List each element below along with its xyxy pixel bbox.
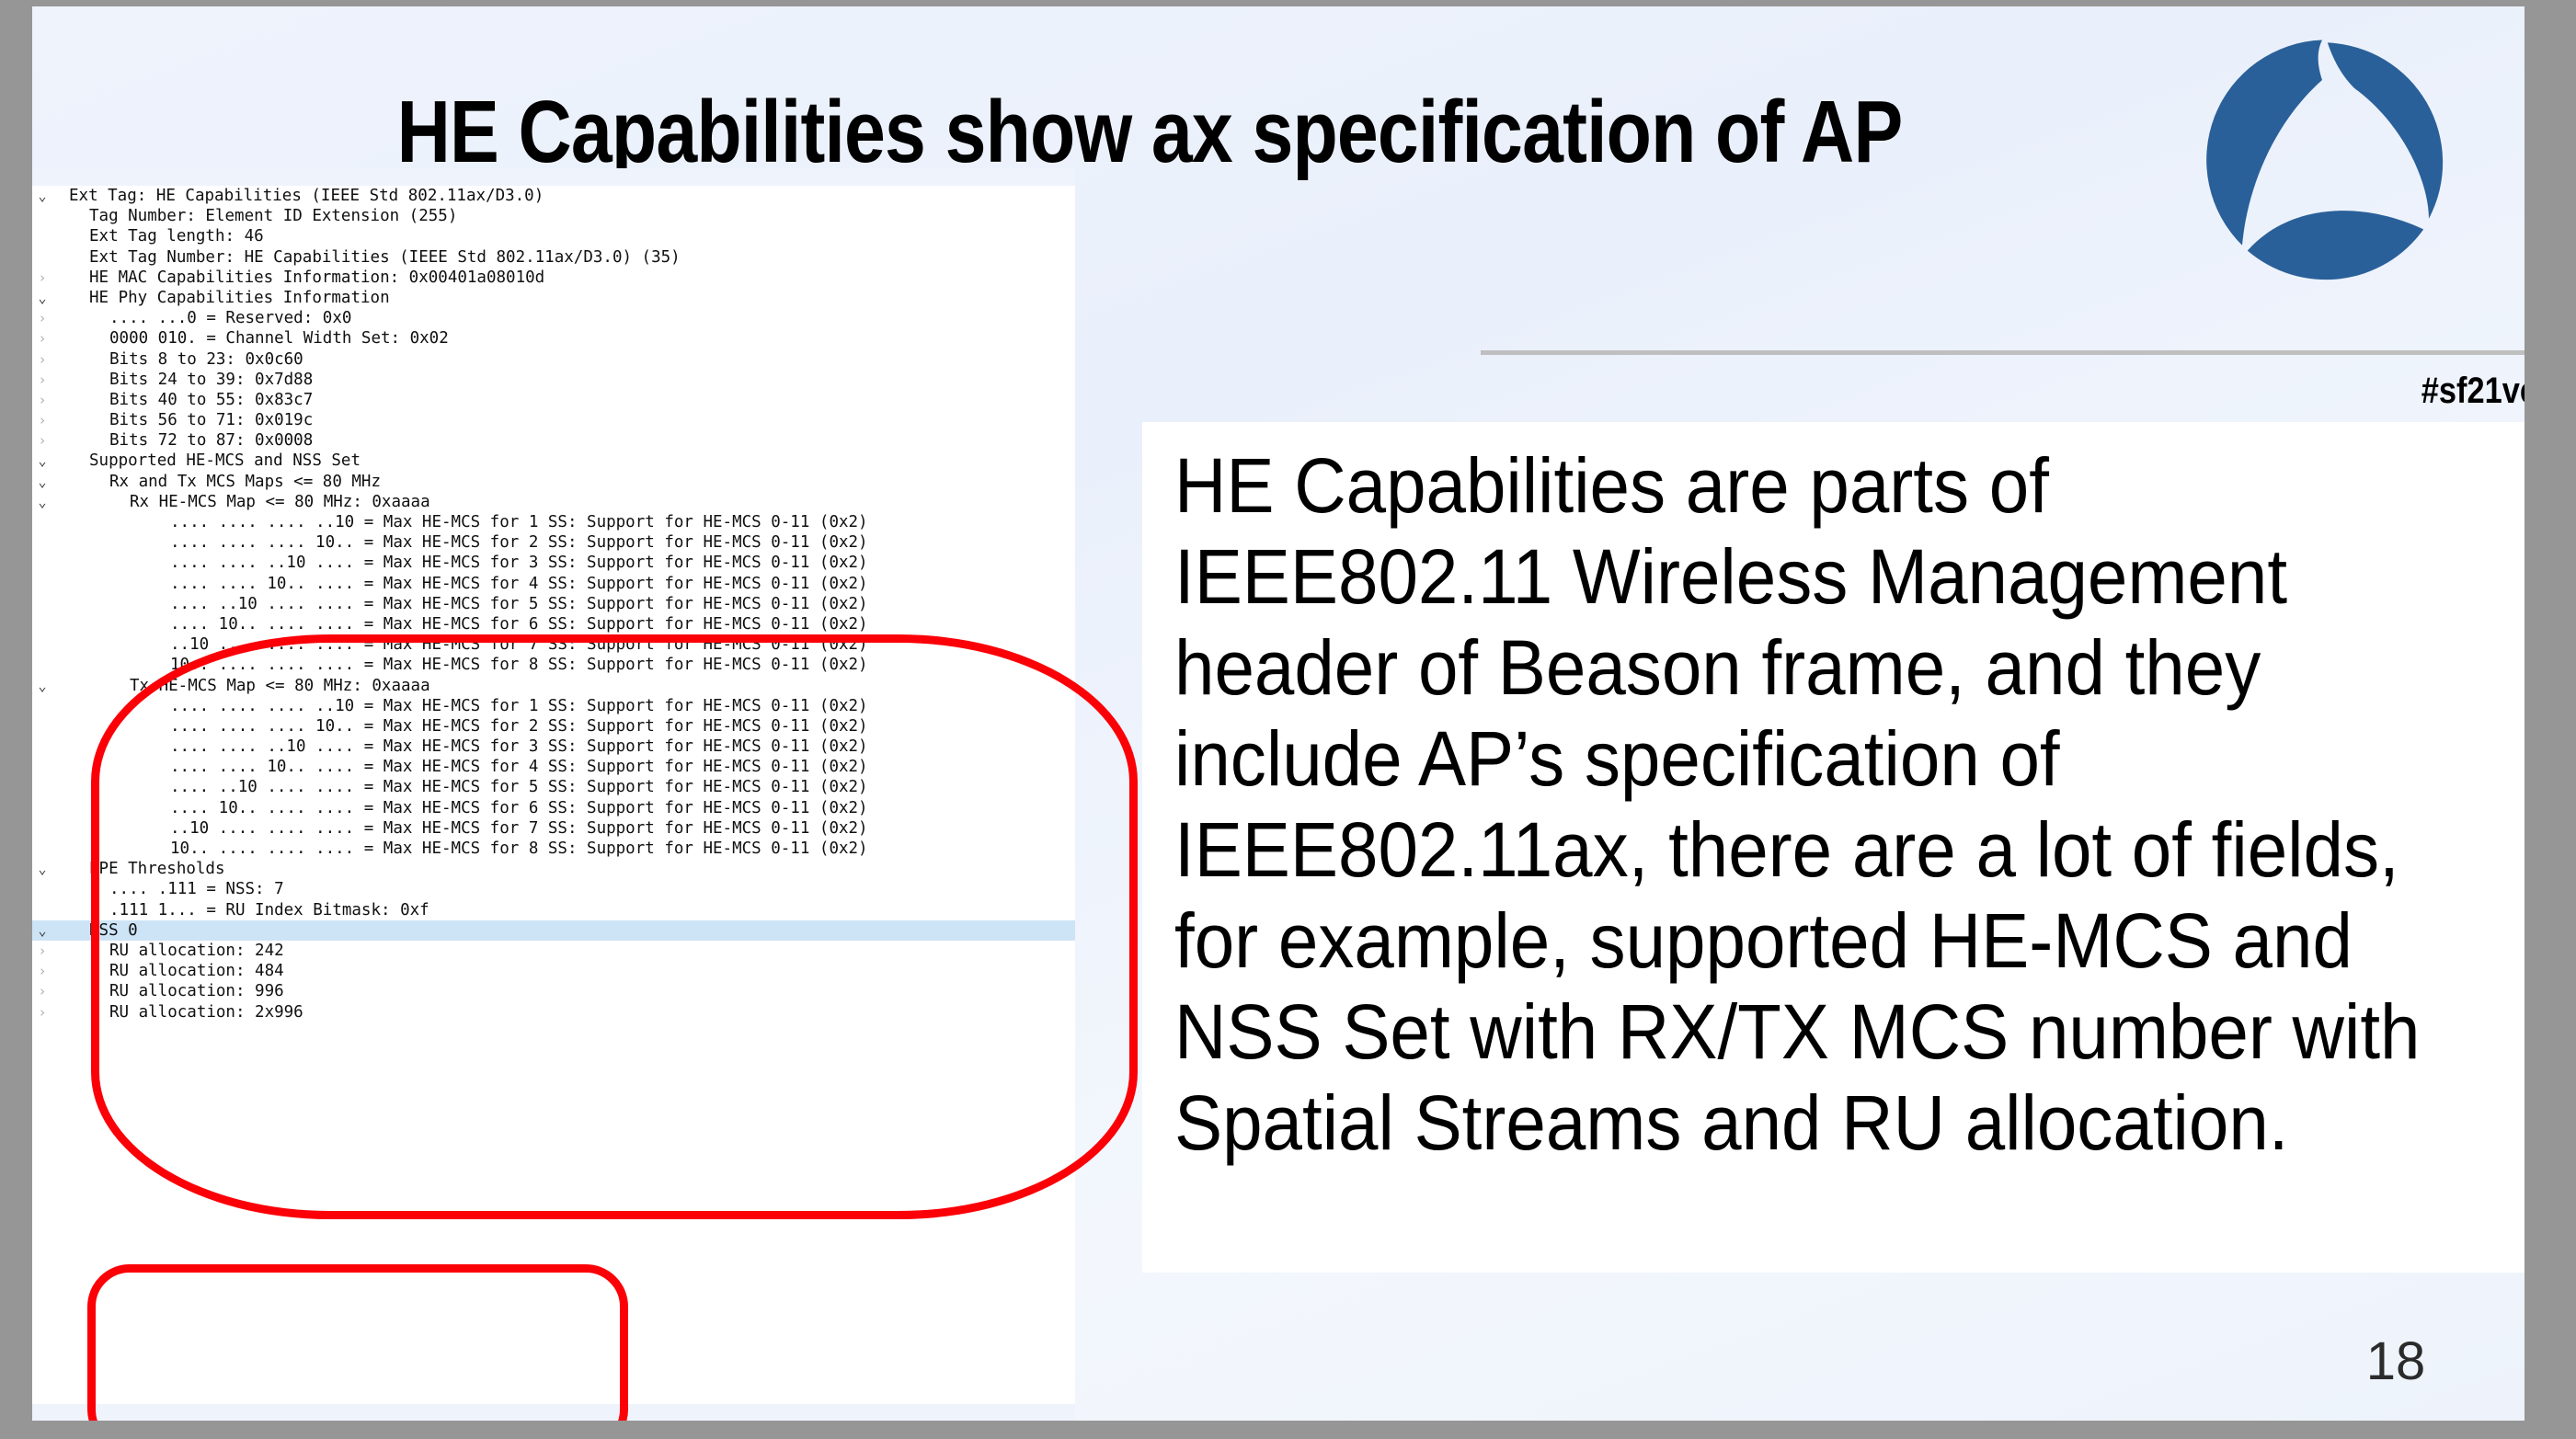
chevron-right-icon[interactable]: › [32,308,52,328]
tree-row[interactable]: ⌄Rx HE-MCS Map <= 80 MHz: 0xaaaa [32,492,1075,512]
tree-row[interactable]: ›RU allocation: 484 [32,961,1075,981]
packet-detail-tree[interactable]: ⌄Ext Tag: HE Capabilities (IEEE Std 802.… [32,186,1075,1022]
spacer-icon [32,532,52,553]
spacer-icon [32,798,52,818]
spacer-icon [32,818,52,839]
spacer-icon [32,614,52,634]
tree-row[interactable]: ›0000 010. = Channel Width Set: 0x02 [32,328,1075,348]
tree-row-selected[interactable]: ⌄NSS 0 [32,920,1075,941]
spacer-icon [32,226,52,246]
tree-row-label: .... .... ..10 .... = Max HE-MCS for 3 S… [52,554,868,572]
tree-row-label: HE Phy Capabilities Information [52,289,390,307]
spacer-icon [32,594,52,614]
spacer-icon [32,655,52,675]
tree-row[interactable]: .... ..10 .... .... = Max HE-MCS for 5 S… [32,777,1075,797]
tree-row-label: NSS 0 [52,921,138,940]
tree-row-label: Ext Tag: HE Capabilities (IEEE Std 802.1… [52,187,544,205]
tree-row-label: ..10 .... .... .... = Max HE-MCS for 7 S… [52,819,868,838]
tree-row[interactable]: .... .... 10.. .... = Max HE-MCS for 4 S… [32,574,1075,594]
tree-row[interactable]: 10.. .... .... .... = Max HE-MCS for 8 S… [32,655,1075,675]
chevron-right-icon[interactable]: › [32,1002,52,1022]
spacer-icon [32,247,52,268]
tree-row[interactable]: ›RU allocation: 242 [32,941,1075,961]
spacer-icon [32,777,52,797]
tree-row[interactable]: ⌄HE Phy Capabilities Information [32,288,1075,308]
tree-row-label: Bits 56 to 71: 0x019c [52,411,313,429]
chevron-down-icon[interactable]: ⌄ [32,288,52,308]
spacer-icon [32,716,52,737]
tree-row-label: Tag Number: Element ID Extension (255) [52,207,457,225]
explanation-text: HE Capabilities are parts of IEEE802.11 … [1174,440,2440,1169]
tree-row[interactable]: ⌄Tx HE-MCS Map <= 80 MHz: 0xaaaa [32,676,1075,696]
slide-canvas: HE Capabilities show ax specification of… [32,6,2524,1421]
chevron-down-icon[interactable]: ⌄ [32,859,52,879]
tree-row[interactable]: .... ..10 .... .... = Max HE-MCS for 5 S… [32,594,1075,614]
tree-row-label: Rx HE-MCS Map <= 80 MHz: 0xaaaa [52,493,430,511]
chevron-right-icon[interactable]: › [32,961,52,981]
tree-row-label: .... .... .... ..10 = Max HE-MCS for 1 S… [52,697,868,715]
tree-row[interactable]: .... 10.. .... .... = Max HE-MCS for 6 S… [32,798,1075,818]
tree-row-label: .... .... 10.. .... = Max HE-MCS for 4 S… [52,758,868,776]
spacer-icon [32,634,52,655]
spacer-icon [32,839,52,859]
spacer-icon [32,900,52,920]
tree-row-label: Tx HE-MCS Map <= 80 MHz: 0xaaaa [52,677,430,695]
tree-row-label: HE MAC Capabilities Information: 0x00401… [52,268,544,287]
tree-row-label: 10.. .... .... .... = Max HE-MCS for 8 S… [52,839,868,858]
tree-row[interactable]: ›Bits 56 to 71: 0x019c [32,410,1075,430]
chevron-right-icon[interactable]: › [32,981,52,1001]
tree-row[interactable]: .... .... .... 10.. = Max HE-MCS for 2 S… [32,532,1075,553]
tree-row[interactable]: ›Bits 72 to 87: 0x0008 [32,430,1075,451]
chevron-right-icon[interactable]: › [32,268,52,288]
spacer-icon [32,574,52,594]
tree-row[interactable]: ..10 .... .... .... = Max HE-MCS for 7 S… [32,818,1075,839]
tree-row-label: .... .... .... 10.. = Max HE-MCS for 2 S… [52,717,868,736]
chevron-down-icon[interactable]: ⌄ [32,492,52,512]
chevron-down-icon[interactable]: ⌄ [32,676,52,696]
tree-row[interactable]: ›Bits 40 to 55: 0x83c7 [32,390,1075,410]
tree-row-label: ..10 .... .... .... = Max HE-MCS for 7 S… [52,635,868,654]
spacer-icon [32,737,52,757]
tree-row-label: Supported HE-MCS and NSS Set [52,451,361,470]
tree-row-label: Bits 24 to 39: 0x7d88 [52,371,313,389]
chevron-right-icon[interactable]: › [32,370,52,390]
tree-row[interactable]: ⌄Ext Tag: HE Capabilities (IEEE Std 802.… [32,186,1075,206]
panel-bottom-strip [32,1404,1075,1421]
tree-row-label: PPE Thresholds [52,860,225,878]
tree-row-label: 10.. .... .... .... = Max HE-MCS for 8 S… [52,656,868,674]
tree-row[interactable]: Tag Number: Element ID Extension (255) [32,206,1075,226]
chevron-right-icon[interactable]: › [32,390,52,410]
tree-row[interactable]: ›RU allocation: 2x996 [32,1002,1075,1022]
tree-row[interactable]: 10.. .... .... .... = Max HE-MCS for 8 S… [32,839,1075,859]
chevron-down-icon[interactable]: ⌄ [32,920,52,941]
spacer-icon [32,553,52,573]
tree-row[interactable]: .... 10.. .... .... = Max HE-MCS for 6 S… [32,614,1075,634]
chevron-right-icon[interactable]: › [32,941,52,961]
tree-row[interactable]: .... .... 10.. .... = Max HE-MCS for 4 S… [32,757,1075,777]
tree-row[interactable]: .... .... ..10 .... = Max HE-MCS for 3 S… [32,553,1075,573]
tree-row-label: .... .... ..10 .... = Max HE-MCS for 3 S… [52,737,868,756]
tree-row-label: 0000 010. = Channel Width Set: 0x02 [52,329,449,348]
wireshark-packet-detail-panel[interactable]: ⌄Ext Tag: HE Capabilities (IEEE Std 802.… [32,168,1075,1421]
tree-row-label: Bits 72 to 87: 0x0008 [52,431,313,450]
tree-row[interactable]: Ext Tag Number: HE Capabilities (IEEE St… [32,247,1075,268]
tree-row[interactable]: ›HE MAC Capabilities Information: 0x0040… [32,268,1075,288]
spacer-icon [32,206,52,226]
tree-row-label: RU allocation: 484 [52,962,284,980]
tree-row-label: .111 1... = RU Index Bitmask: 0xf [52,901,429,919]
tree-row-label: Ext Tag length: 46 [52,227,264,246]
tree-row-label: .... .... .... ..10 = Max HE-MCS for 1 S… [52,513,868,531]
tree-row[interactable]: .... .... .... 10.. = Max HE-MCS for 2 S… [32,716,1075,737]
chevron-right-icon[interactable]: › [32,410,52,430]
panel-top-strip [32,168,1075,186]
chevron-down-icon[interactable]: ⌄ [32,451,52,471]
tree-row-label: .... ...0 = Reserved: 0x0 [52,309,351,327]
tree-row[interactable]: .... .... .... ..10 = Max HE-MCS for 1 S… [32,696,1075,716]
tree-row[interactable]: ›RU allocation: 996 [32,981,1075,1001]
tree-row-label: Rx and Tx MCS Maps <= 80 MHz [52,473,381,491]
tree-row[interactable]: ⌄Rx and Tx MCS Maps <= 80 MHz [32,472,1075,492]
tree-row[interactable]: ..10 .... .... .... = Max HE-MCS for 7 S… [32,634,1075,655]
spacer-icon [32,879,52,899]
tree-row[interactable]: Ext Tag length: 46 [32,226,1075,246]
tree-row-label: RU allocation: 2x996 [52,1003,303,1022]
tree-row-label: RU allocation: 242 [52,942,284,960]
spacer-icon [32,512,52,532]
tree-row-label: .... .111 = NSS: 7 [52,880,284,898]
tree-row-label: Bits 8 to 23: 0x0c60 [52,350,303,369]
slide-number: 18 [2313,1331,2479,1392]
tree-row[interactable]: .111 1... = RU Index Bitmask: 0xf [32,900,1075,920]
tree-row-label: .... 10.. .... .... = Max HE-MCS for 6 S… [52,799,868,817]
event-hashtag: #sf21veu [1631,371,2524,412]
chevron-down-icon[interactable]: ⌄ [32,186,52,206]
tree-row[interactable]: ›Bits 24 to 39: 0x7d88 [32,370,1075,390]
tree-row-label: .... 10.. .... .... = Max HE-MCS for 6 S… [52,615,868,634]
sharkfest-logo [2189,27,2456,293]
tree-row-label: RU allocation: 996 [52,982,284,1000]
tree-row[interactable]: ⌄PPE Thresholds [32,859,1075,879]
tree-row[interactable]: ⌄Supported HE-MCS and NSS Set [32,451,1075,471]
tree-row-label: Ext Tag Number: HE Capabilities (IEEE St… [52,248,681,267]
tree-row-label: .... ..10 .... .... = Max HE-MCS for 5 S… [52,595,868,613]
tree-row[interactable]: ›Bits 8 to 23: 0x0c60 [32,349,1075,370]
tree-row-label: .... .... 10.. .... = Max HE-MCS for 4 S… [52,575,868,593]
chevron-right-icon[interactable]: › [32,430,52,451]
header-divider [1481,350,2524,355]
spacer-icon [32,757,52,777]
tree-row[interactable]: .... .... .... ..10 = Max HE-MCS for 1 S… [32,512,1075,532]
tree-row-label: .... .... .... 10.. = Max HE-MCS for 2 S… [52,533,868,552]
chevron-right-icon[interactable]: › [32,328,52,348]
tree-row[interactable]: .... .... ..10 .... = Max HE-MCS for 3 S… [32,737,1075,757]
chevron-right-icon[interactable]: › [32,349,52,370]
chevron-down-icon[interactable]: ⌄ [32,472,52,492]
tree-row-label: .... ..10 .... .... = Max HE-MCS for 5 S… [52,778,868,796]
spacer-icon [32,696,52,716]
tree-row[interactable]: .... .111 = NSS: 7 [32,879,1075,899]
tree-row[interactable]: ›.... ...0 = Reserved: 0x0 [32,308,1075,328]
tree-row-label: Bits 40 to 55: 0x83c7 [52,391,313,409]
